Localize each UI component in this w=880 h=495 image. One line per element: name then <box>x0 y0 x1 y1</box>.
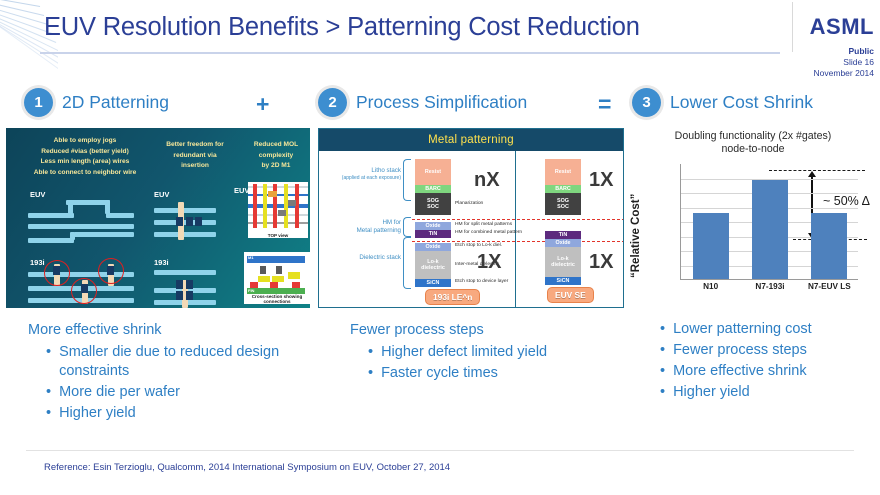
delta-annotation: ~ 50% Δ <box>823 194 870 208</box>
step-2-label: Process Simplification <box>356 92 527 113</box>
step-1-label: 2D Patterning <box>62 92 169 113</box>
callout-via-line-2: redundant via <box>154 151 236 162</box>
bullet-col3-item-3: • More effective shrink <box>660 362 880 381</box>
slide-date-label: November 2014 <box>810 68 874 79</box>
inset-top-view-caption: TOP view <box>248 233 308 238</box>
left-layer-resist: Resist <box>415 159 451 185</box>
callout-mol-line-3: by 2D M1 <box>242 161 310 172</box>
left-note-etch-device: Etch stop to device layer <box>455 279 508 285</box>
right-layer-resist: Resist <box>545 159 581 185</box>
bullet-glyph: • <box>660 320 665 339</box>
side-label-hm-metal: HM for Metal patterning <box>323 219 401 234</box>
classification-label: Public <box>810 46 874 57</box>
callout-jogs-line-4: Able to connect to neighbor wire <box>10 168 160 179</box>
right-layer-lok-line2: dielectric <box>551 262 575 268</box>
bullet-col1-item-3: • Higher yield <box>46 404 328 423</box>
bullet-col3-item-1-text: Lower patterning cost <box>673 320 812 339</box>
dash-divider-bottom <box>412 241 624 242</box>
left-layer-tin: TiN <box>415 230 451 238</box>
bullet-column-3: • Lower patterning cost • Fewer process … <box>660 320 880 404</box>
bullet-glyph: • <box>660 341 665 360</box>
bullet-col2-item-1-text: Higher defect limited yield <box>381 343 547 362</box>
brand-block: ASML Public Slide 16 November 2014 <box>810 14 874 79</box>
highlight-ring-3 <box>71 278 97 304</box>
bullet-col2-item-2: • Faster cycle times <box>368 364 640 383</box>
pill-193i-len: 193i LE^n <box>425 289 480 305</box>
bullet-col3-item-2-text: Fewer process steps <box>673 341 807 360</box>
chart-x-tick: N10 <box>681 282 740 291</box>
bullet-glyph: • <box>46 383 51 402</box>
p1-colB-193i-label: 193i <box>154 258 169 267</box>
left-layer-sog-soc: SOG SOC <box>415 193 451 215</box>
brace-dielectric <box>403 237 411 289</box>
left-layer-barc: BARC <box>415 185 451 193</box>
left-layer-sicn: SiCN <box>415 279 451 287</box>
inset-cross-section-caption: Cross-section showing connections <box>244 294 310 304</box>
side-label-dielectric-stack: Dielectric stack <box>323 254 401 262</box>
chart-title-line-2: node-to-node <box>632 143 874 156</box>
slide-number-label: Slide 16 <box>810 57 874 68</box>
callout-redundant-via: Better freedom for redundant via inserti… <box>154 140 236 172</box>
operator-plus: + <box>256 91 269 118</box>
multiplier-nx: nX <box>474 169 500 192</box>
bullet-glyph: • <box>46 404 51 423</box>
left-note-split: HM for split metal patterns <box>455 222 512 228</box>
bullet-col1-item-3-text: Higher yield <box>59 404 136 423</box>
highlight-ring-2 <box>98 258 124 284</box>
right-layer-soc: SOC <box>557 204 569 210</box>
bullet-col2-lead: Fewer process steps <box>350 320 640 340</box>
right-layer-barc: BARC <box>545 185 581 193</box>
reference-text: Reference: Esin Terzioglu, Qualcomm, 201… <box>44 462 450 473</box>
multiplier-right-1x-litho: 1X <box>589 169 613 192</box>
panel2-bottom-rule <box>319 307 623 308</box>
chart-plot-area: ~ 50% Δ N10N7-193iN7-EUV LS <box>680 164 858 280</box>
left-layer-soc: SOC <box>427 204 439 210</box>
page-title: EUV Resolution Benefits > Patterning Cos… <box>44 13 640 42</box>
step-1: 1 2D Patterning <box>24 88 169 117</box>
step-2-badge: 2 <box>318 88 347 117</box>
chart-title-line-1: Doubling functionality (2x #gates) <box>632 130 874 143</box>
asml-logo: ASML <box>810 14 874 40</box>
footer-divider <box>26 450 854 451</box>
bullet-col3-item-3-text: More effective shrink <box>673 362 807 381</box>
left-layer-lok: Lo-k dielectric <box>415 251 451 279</box>
step-row: 1 2D Patterning + 2 Process Simplificati… <box>0 84 880 124</box>
callout-jogs-line-2: Reduced #vias (better yield) <box>10 147 160 158</box>
bullet-col3-item-4-text: Higher yield <box>673 383 750 402</box>
callout-via-line-1: Better freedom for <box>154 140 236 151</box>
callout-jogs-line-3: Less min length (area) wires <box>10 157 160 168</box>
chart-x-tick: N7-193i <box>740 282 799 291</box>
step-3-badge: 3 <box>632 88 661 117</box>
side-label-litho-stack-title: Litho stack <box>323 167 401 175</box>
inset-top-view: TOP view <box>248 182 308 238</box>
operator-equals: = <box>598 91 611 118</box>
bullet-glyph: • <box>368 343 373 362</box>
bullet-col3-item-4: • Higher yield <box>660 383 880 402</box>
chart-bar <box>752 180 788 279</box>
brand-divider <box>792 2 793 52</box>
right-layer-oxide: Oxide <box>545 239 581 247</box>
leader-line-top <box>769 170 865 171</box>
callout-via-line-3: insertion <box>154 161 236 172</box>
inset-cross-section: M1 FIN Cross-section showing connections <box>244 252 310 304</box>
side-label-litho-stack: Litho stack (applied at each exposure) <box>323 167 401 182</box>
step-1-badge: 1 <box>24 88 53 117</box>
callout-jogs-line-1: Able to employ jogs <box>10 136 160 147</box>
chart-x-tick: N7-EUV LS <box>800 282 859 291</box>
metal-patterning-heading: Metal patterning <box>319 129 623 151</box>
side-label-hm-title: HM for <box>323 219 401 227</box>
step-3: 3 Lower Cost Shrink <box>632 88 813 117</box>
bullet-col1-lead: More effective shrink <box>28 320 328 340</box>
step-3-label: Lower Cost Shrink <box>670 92 813 113</box>
panel-metal-patterning-canvas: Metal patterning Litho stack (applied at… <box>318 128 624 308</box>
bullet-column-1: More effective shrink • Smaller die due … <box>28 320 328 425</box>
bullet-col2-item-2-text: Faster cycle times <box>381 364 498 383</box>
bullet-col1-item-2: • More die per wafer <box>46 383 328 402</box>
chart-bar <box>693 213 729 279</box>
side-label-dielectric-title: Dielectric stack <box>323 254 401 262</box>
callout-jogs: Able to employ jogs Reduced #vias (bette… <box>10 136 160 178</box>
left-note-planarization: Planarization <box>455 201 483 207</box>
bullet-col3-item-2: • Fewer process steps <box>660 341 880 360</box>
chart-title: Doubling functionality (2x #gates) node-… <box>632 130 874 156</box>
p1-colB-euv-label: EUV <box>154 190 169 199</box>
panel-2d-patterning-canvas: Able to employ jogs Reduced #vias (bette… <box>6 128 310 308</box>
multiplier-left-1x: 1X <box>477 251 501 274</box>
bullet-column-2: Fewer process steps • Higher defect limi… <box>350 320 640 385</box>
brace-litho <box>403 159 411 201</box>
bullet-col3-item-1: • Lower patterning cost <box>660 320 880 339</box>
callout-mol-line-1: Reduced MOL <box>242 140 310 151</box>
callout-mol-line-2: complexity <box>242 151 310 162</box>
p1-colA-euv-label: EUV <box>30 190 45 199</box>
left-note-etch-lok: Etch stop to Lo-k diel. <box>455 243 502 249</box>
left-layer-oxide-hm: Oxide <box>415 222 451 230</box>
panel-lower-cost-shrink: Doubling functionality (2x #gates) node-… <box>632 128 874 308</box>
left-layer-oxide-diel: Oxide <box>415 243 451 251</box>
side-label-hm-sub: Metal patterning <box>323 227 401 235</box>
p1-colA-193i-label: 193i <box>30 258 45 267</box>
brace-hm <box>403 217 411 237</box>
dash-divider-top <box>412 219 624 220</box>
panel-2d-patterning: Able to employ jogs Reduced #vias (bette… <box>6 128 310 308</box>
relative-cost-chart: Doubling functionality (2x #gates) node-… <box>632 128 874 308</box>
step-2: 2 Process Simplification <box>318 88 527 117</box>
bullet-col1-item-1: • Smaller die due to reduced design cons… <box>46 343 328 381</box>
bullet-glyph: • <box>660 383 665 402</box>
highlight-ring-1 <box>44 260 70 286</box>
multiplier-right-1x-diel: 1X <box>589 251 613 274</box>
side-label-litho-stack-sub: (applied at each exposure) <box>323 175 401 183</box>
bullet-glyph: • <box>46 343 51 381</box>
bullet-glyph: • <box>660 362 665 381</box>
bullet-col1-item-2-text: More die per wafer <box>59 383 180 402</box>
chart-y-axis-label: “Relative Cost” <box>630 194 642 278</box>
slide-meta: Public Slide 16 November 2014 <box>810 46 874 79</box>
right-layer-lok: Lo-k dielectric <box>545 247 581 277</box>
callout-mol-complexity: Reduced MOL complexity by 2D M1 <box>242 140 310 172</box>
bullet-col2-item-1: • Higher defect limited yield <box>368 343 640 362</box>
chart-bar <box>811 213 847 279</box>
panel-process-simplification: Metal patterning Litho stack (applied at… <box>318 128 624 308</box>
right-layer-sog-soc: SOG SOC <box>545 193 581 215</box>
bullet-col1-item-1-text: Smaller die due to reduced design constr… <box>59 343 328 381</box>
left-note-combined: HM for combined metal pattern <box>455 230 522 236</box>
right-layer-sicn: SiCN <box>545 277 581 285</box>
left-layer-lok-line2: dielectric <box>421 265 445 271</box>
bullet-glyph: • <box>368 364 373 383</box>
right-layer-tin: TiN <box>545 231 581 239</box>
pill-euv-se: EUV SE <box>547 287 594 303</box>
title-divider <box>40 52 780 54</box>
